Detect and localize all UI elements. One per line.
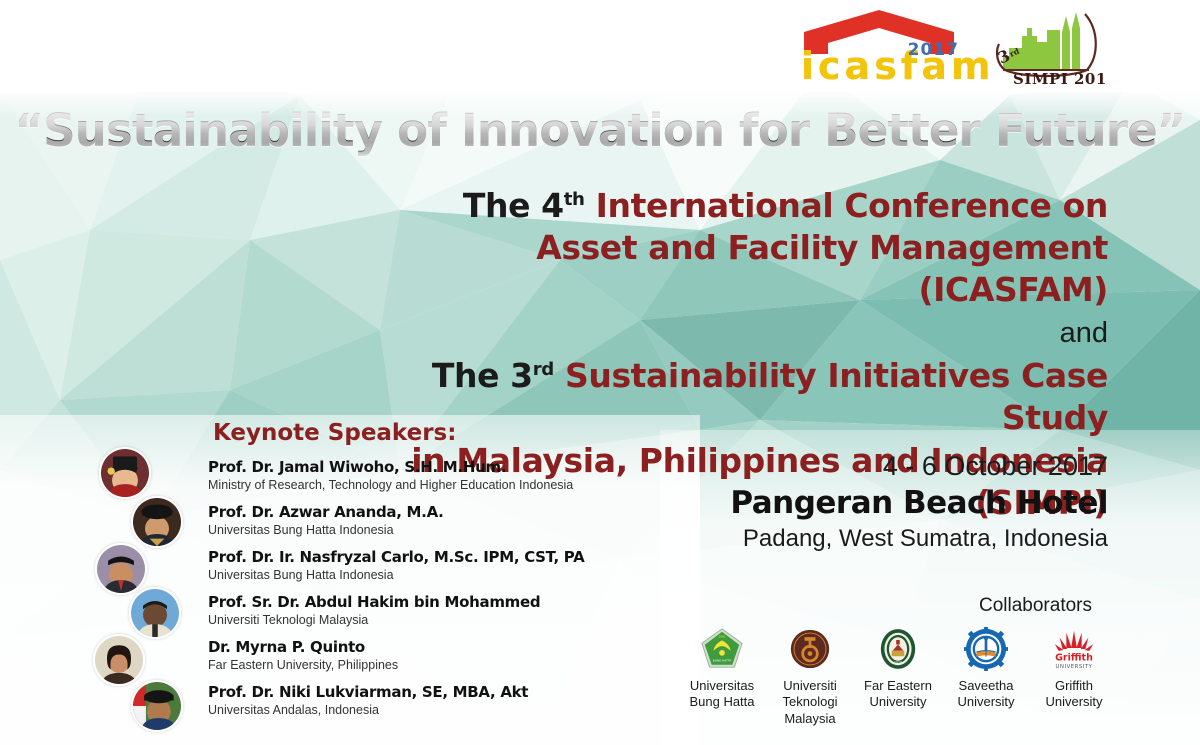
- collaborator-name-line1: Universitas: [681, 678, 763, 694]
- simpi-label: SIMPI 2017: [1013, 70, 1105, 88]
- speaker-name: Dr. Myrna P. Quinto: [208, 639, 398, 657]
- conference2-prefix: The 3: [432, 356, 533, 395]
- svg-text:1928: 1928: [894, 660, 902, 664]
- icasfam-year: 2017: [908, 40, 959, 60]
- speaker-avatar: [99, 447, 151, 499]
- griffith-university-logo-icon: Griffith UNIVERSITY: [1033, 625, 1115, 673]
- speaker-avatar: [131, 680, 183, 732]
- simpi-skyline-icon: 3 rd SIMPI 2017: [983, 8, 1105, 90]
- poster-tagline: “Sustainability of Innovation for Better…: [0, 104, 1200, 157]
- speaker-text: Prof. Dr. Niki Lukviarman, SE, MBA, Akt …: [208, 684, 528, 718]
- speaker-row: Prof. Sr. Dr. Abdul Hakim bin Mohammed U…: [95, 590, 655, 635]
- svg-text:UNIVERSITY: UNIVERSITY: [1056, 664, 1093, 670]
- simpi-logo: 3 rd SIMPI 2017: [983, 8, 1105, 90]
- conference1-rest: International Conference on: [585, 186, 1108, 225]
- icasfam-wordmark: icasfam: [801, 47, 995, 85]
- collaborator-name-line2: University: [1033, 694, 1115, 710]
- svg-text:1981: 1981: [718, 635, 725, 639]
- far-eastern-university-logo-icon: 1928: [857, 625, 939, 673]
- collaborator-name-line2: Teknologi: [769, 694, 851, 710]
- venue-block: 4 - 6 October 2017 Pangeran Beach Hotel …: [648, 450, 1108, 554]
- speaker-affiliation: Universiti Teknologi Malaysia: [208, 613, 540, 629]
- collaborator-name-line1: Far Eastern: [857, 678, 939, 694]
- conference1-prefix: The 4: [463, 186, 564, 225]
- event-city: Padang, West Sumatra, Indonesia: [648, 523, 1108, 554]
- collaborator-item: 1981 BUNG HATTA Universitas Bung Hatta: [681, 625, 763, 711]
- collaborator-item: Saveetha University: [945, 625, 1027, 711]
- svg-text:BUNG HATTA: BUNG HATTA: [713, 658, 731, 662]
- speaker-avatar: [131, 496, 183, 548]
- collaborator-name: Universiti Teknologi Malaysia: [769, 678, 851, 727]
- collaborator-name-line2: University: [945, 694, 1027, 710]
- speaker-row: Prof. Dr. Jamal Wiwoho, S.H. M.Hum. Mini…: [95, 455, 655, 500]
- saveetha-university-logo-icon: [945, 625, 1027, 673]
- conference2-line1: The 3rd Sustainability Initiatives Case …: [408, 355, 1108, 439]
- conference1-line1: The 4th International Conference on: [408, 185, 1108, 227]
- collaborator-name-line3: Malaysia: [769, 711, 851, 727]
- speaker-row: Prof. Dr. Niki Lukviarman, SE, MBA, Akt …: [95, 680, 655, 725]
- speaker-affiliation: Ministry of Research, Technology and Hig…: [208, 478, 573, 494]
- tagline-text: “Sustainability of Innovation for Better…: [14, 104, 1185, 157]
- speaker-text: Prof. Dr. Ir. Nasfryzal Carlo, M.Sc. IPM…: [208, 549, 584, 583]
- conference1-ordinal-suffix: th: [564, 189, 585, 210]
- speaker-name: Prof. Dr. Ir. Nasfryzal Carlo, M.Sc. IPM…: [208, 549, 584, 567]
- collaborators-list: 1981 BUNG HATTA Universitas Bung Hatta: [681, 625, 1115, 727]
- speaker-text: Prof. Dr. Azwar Ananda, M.A. Universitas…: [208, 504, 444, 538]
- conference1-line2: Asset and Facility Management (ICASFAM): [408, 227, 1108, 311]
- conference2-rest: Sustainability Initiatives Case Study: [554, 356, 1108, 437]
- universiti-teknologi-malaysia-logo-icon: [769, 625, 851, 673]
- collaborator-name: Griffith University: [1033, 678, 1115, 711]
- universitas-bung-hatta-logo-icon: 1981 BUNG HATTA: [681, 625, 763, 673]
- speaker-avatar: [129, 587, 181, 639]
- icasfam-logo: icasfam 2017: [796, 8, 961, 86]
- speaker-avatar: [95, 543, 147, 595]
- collaborators-heading: Collaborators: [979, 595, 1092, 617]
- keynote-heading: Keynote Speakers:: [213, 420, 456, 446]
- logo-group: icasfam 2017: [796, 8, 1105, 90]
- speaker-text: Prof. Sr. Dr. Abdul Hakim bin Mohammed U…: [208, 594, 540, 628]
- collaborator-name-line2: University: [857, 694, 939, 710]
- collaborator-name: Saveetha University: [945, 678, 1027, 711]
- speaker-name: Prof. Dr. Azwar Ananda, M.A.: [208, 504, 444, 522]
- titles-connector: and: [408, 312, 1108, 356]
- conference-poster: icasfam 2017: [0, 0, 1200, 745]
- keynote-speakers-list: Prof. Dr. Jamal Wiwoho, S.H. M.Hum. Mini…: [95, 455, 655, 725]
- speaker-name: Prof. Dr. Niki Lukviarman, SE, MBA, Akt: [208, 684, 528, 702]
- speaker-affiliation: Far Eastern University, Philippines: [208, 658, 398, 674]
- speaker-text: Prof. Dr. Jamal Wiwoho, S.H. M.Hum. Mini…: [208, 459, 573, 493]
- event-hotel: Pangeran Beach Hotel: [648, 484, 1108, 523]
- event-date: 4 - 6 October 2017: [648, 450, 1108, 484]
- collaborator-name: Far Eastern University: [857, 678, 939, 711]
- svg-text:Griffith: Griffith: [1055, 652, 1093, 663]
- speaker-row: Prof. Dr. Azwar Ananda, M.A. Universitas…: [95, 500, 655, 545]
- conference2-ordinal-suffix: rd: [533, 359, 554, 380]
- speaker-text: Dr. Myrna P. Quinto Far Eastern Universi…: [208, 639, 398, 673]
- collaborator-name: Universitas Bung Hatta: [681, 678, 763, 711]
- speaker-affiliation: Universitas Bung Hatta Indonesia: [208, 523, 444, 539]
- collaborator-item: Griffith UNIVERSITY Griffith University: [1033, 625, 1115, 711]
- collaborator-name-line1: Saveetha: [945, 678, 1027, 694]
- speaker-row: Dr. Myrna P. Quinto Far Eastern Universi…: [95, 635, 655, 680]
- speaker-row: Prof. Dr. Ir. Nasfryzal Carlo, M.Sc. IPM…: [95, 545, 655, 590]
- collaborator-item: Universiti Teknologi Malaysia: [769, 625, 851, 727]
- speaker-affiliation: Universitas Bung Hatta Indonesia: [208, 568, 584, 584]
- collaborator-name-line2: Bung Hatta: [681, 694, 763, 710]
- speaker-name: Prof. Sr. Dr. Abdul Hakim bin Mohammed: [208, 594, 540, 612]
- collaborator-item: 1928 Far Eastern University: [857, 625, 939, 711]
- speaker-avatar: [93, 634, 145, 686]
- speaker-affiliation: Universitas Andalas, Indonesia: [208, 703, 528, 719]
- collaborator-name-line1: Griffith: [1033, 678, 1115, 694]
- collaborator-name-line1: Universiti: [769, 678, 851, 694]
- speaker-name: Prof. Dr. Jamal Wiwoho, S.H. M.Hum.: [208, 459, 573, 477]
